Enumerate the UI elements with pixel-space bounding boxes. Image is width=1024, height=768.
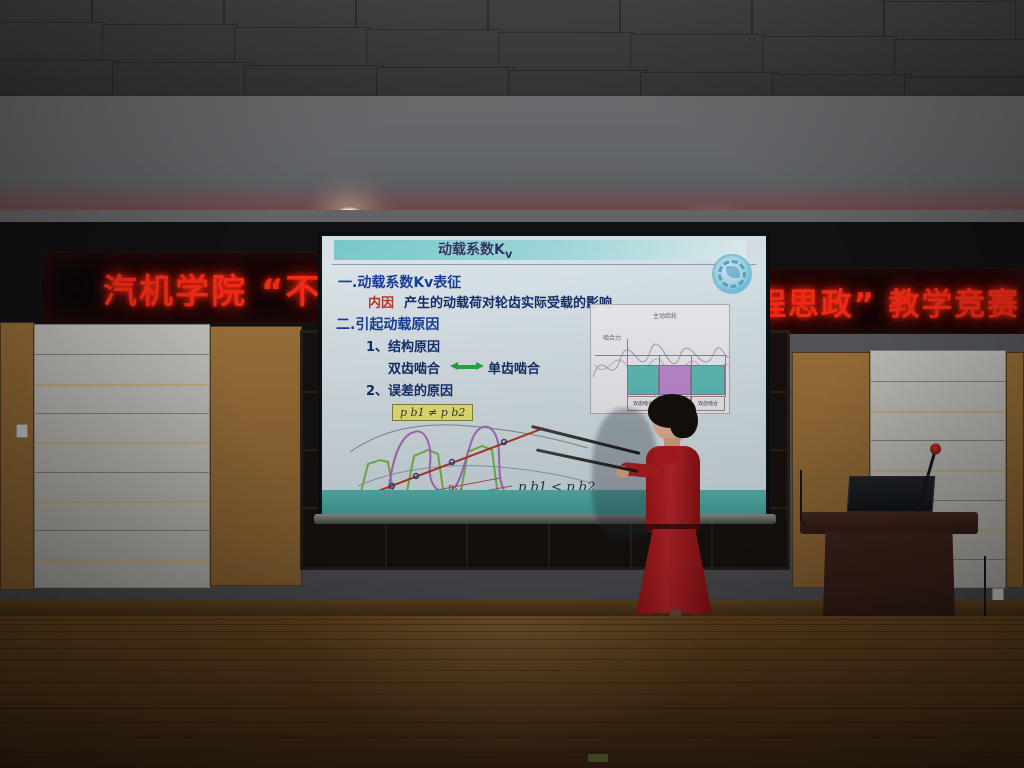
floor-plank-seam: [0, 619, 1024, 620]
double-arrow-icon: [450, 362, 484, 371]
floor-plank-seam: [0, 624, 1024, 625]
slide-line-5-right: 单齿啮合: [488, 358, 540, 377]
wall-panel-slat: [35, 472, 209, 473]
floor-plank-seam: [0, 752, 1024, 753]
floor-plank-seam: [0, 708, 1024, 709]
ceiling-tile: [488, 0, 620, 38]
mini-chart-zone-2: [659, 365, 691, 395]
led-banner-right: 程思政” 教学竞赛: [752, 268, 1024, 334]
slide-line-5-left: 双齿啮合: [388, 358, 440, 377]
wall-panel-wood: [1006, 352, 1024, 588]
ceiling-tile: [102, 24, 238, 82]
presenter-hair-back: [670, 402, 698, 438]
slide-line-1: 一.动载系数Kv表征: [338, 272, 461, 292]
floor-plank-seam: [0, 737, 1024, 738]
wall-panel-slat: [35, 442, 209, 444]
floor-plank-seam: [0, 631, 1024, 632]
ceiling-tile: [620, 0, 752, 40]
floor-plank-seam: [0, 648, 1024, 649]
ceiling-tile: [92, 0, 224, 30]
ceiling-tile: [366, 29, 502, 87]
floor-marker: [588, 754, 608, 762]
slide-line-2-rest: 产生的动载荷对轮齿实际受载的影响: [404, 292, 612, 311]
floor-plank-seam: [0, 670, 1024, 671]
lecture-hall-photo: 汽机学院 “不忘 程思政” 教学竞赛 动载系数Kv 一.动载系数Kv表征 内因 …: [0, 0, 1024, 768]
ceiling-tile: [0, 0, 92, 28]
slide-title: 动载系数Kv: [438, 239, 512, 261]
slide-title-text: 动载系数K: [438, 242, 505, 258]
floor-plank-seam: [0, 659, 1024, 660]
led-banner-right-text: 程思政” 教学竞赛: [753, 279, 1020, 324]
lectern-top: [800, 512, 978, 534]
wall-outlet: [16, 424, 28, 438]
floor-plank-seam: [0, 682, 1024, 683]
presenter-collar: [656, 446, 678, 464]
ceiling-tile: [884, 1, 1016, 45]
wall-panel-slat: [35, 560, 209, 562]
slide-line-3: 二.引起动载原因: [336, 314, 439, 334]
presenter-skirt: [636, 529, 712, 613]
ceiling-tile: [630, 34, 766, 92]
slide-line-2-emphasis: 内因: [368, 292, 394, 311]
wall-panel-wood: [210, 326, 302, 586]
wall-panel-white: [34, 324, 210, 588]
wall-panel-slat: [871, 470, 1005, 472]
led-banner-left-text: 汽机学院 “不忘: [41, 264, 330, 313]
university-gear-emblem-icon: [712, 254, 752, 294]
wall-panel-wood: [0, 322, 34, 590]
ceiling-tile: [894, 39, 1024, 97]
led-banner-left: 汽机学院 “不忘: [40, 252, 330, 324]
floor-plank-seam: [0, 722, 1024, 723]
slide-title-subscript: v: [505, 247, 513, 261]
cable: [800, 470, 814, 530]
wall-panel-slat: [35, 384, 209, 386]
wall-panel-slat: [35, 501, 209, 503]
wall-panel-slat: [871, 440, 1005, 441]
wall-panel-slat: [871, 411, 1005, 413]
floor-plank-seam: [0, 694, 1024, 695]
ceiling-soffit: [0, 96, 1024, 226]
slide-line-6: 2、误差的原因: [366, 380, 453, 399]
slide-line-4: 1、结构原因: [366, 336, 440, 355]
floor: [0, 616, 1024, 768]
mini-chart-zone-1: [627, 365, 659, 395]
ceiling-tile: [498, 32, 634, 90]
ceiling-tile: [356, 0, 488, 35]
floor-plank-seam: [0, 639, 1024, 640]
mini-chart-zone-3: [691, 365, 725, 395]
ceiling-tile: [224, 0, 356, 33]
wall-panel-slat: [35, 354, 209, 355]
ceiling-tile-grid: [0, 0, 1024, 110]
slide-title-band: [334, 240, 746, 260]
ceiling-tile: [762, 36, 898, 94]
wall-panel-slat: [35, 530, 209, 531]
wall-panel-slat: [35, 413, 209, 414]
ceiling-tile: [752, 0, 884, 42]
wall-panel-slat: [871, 381, 1005, 382]
ceiling-tile: [0, 22, 106, 80]
ceiling-tile: [234, 27, 370, 85]
slide-title-rule: [332, 264, 756, 265]
